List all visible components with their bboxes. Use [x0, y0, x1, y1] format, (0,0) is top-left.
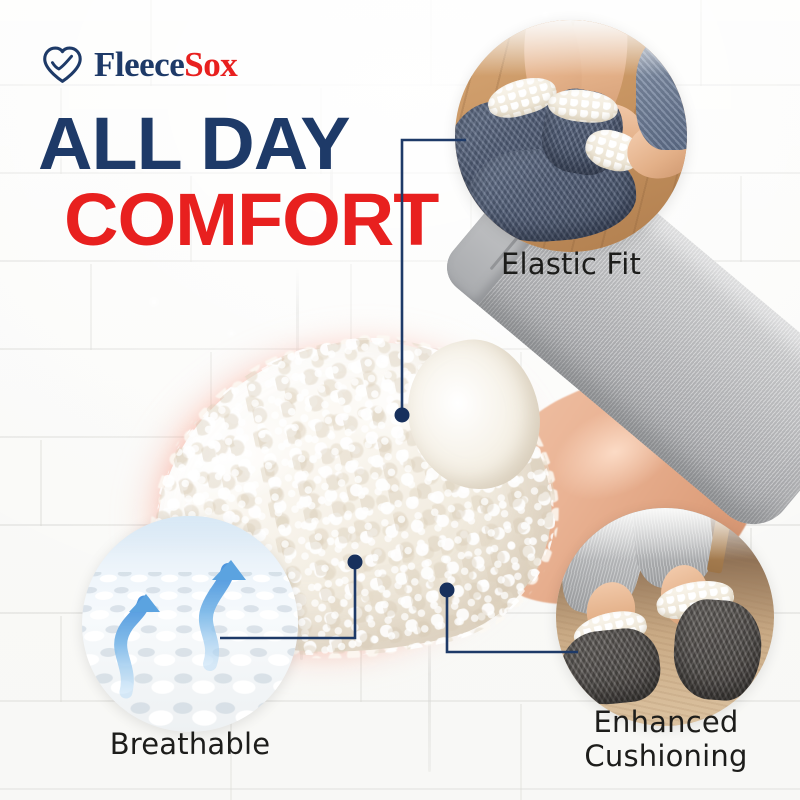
feature-label-breathable: Breathable: [62, 728, 318, 762]
feature-image-breathable: [82, 516, 298, 732]
inset-top-fade: [556, 508, 774, 560]
feature-image-enhanced-cushioning: [556, 508, 774, 726]
feature-label-enhanced-cushioning: Enhanced Cushioning: [540, 706, 792, 773]
feature-image-elastic-fit: [455, 20, 687, 252]
advertisement-canvas: FleeceSox ALL DAY COMFORT: [0, 0, 800, 800]
inset-top-fade: [82, 516, 298, 555]
inset-top-fade: [455, 20, 687, 76]
feature-label-elastic-fit: Elastic Fit: [455, 248, 687, 282]
